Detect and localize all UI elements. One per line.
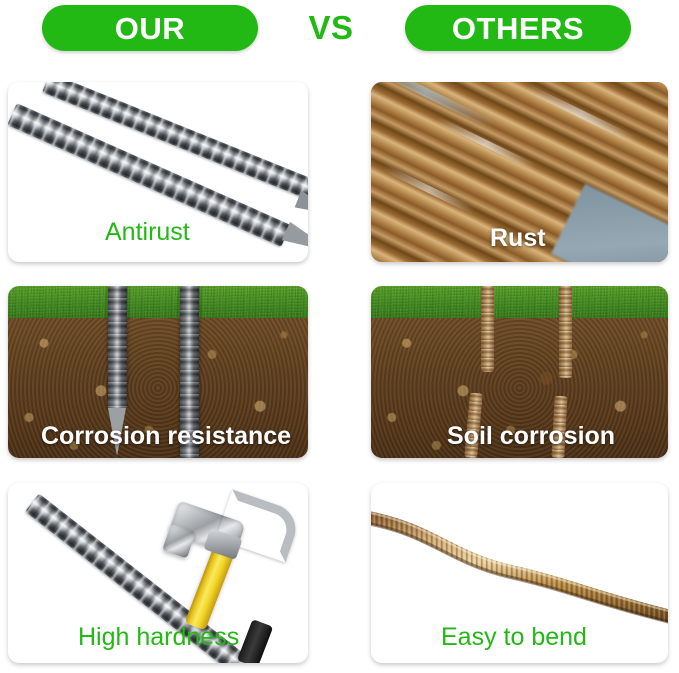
panel-caption: High hardness <box>78 623 239 651</box>
steel-rebar-upper-tip <box>295 191 308 225</box>
vs-label: VS <box>296 10 366 46</box>
panel-caption: Easy to bend <box>441 623 587 651</box>
bent-rebar-ribs <box>371 517 668 617</box>
hammer-grip <box>237 619 273 663</box>
rust-streak-3 <box>525 84 636 144</box>
panel-caption: Corrosion resistance <box>41 422 291 450</box>
panel-antirust: Antirust <box>8 82 308 262</box>
grass-layer <box>371 286 668 318</box>
panel-rust: Rust <box>371 82 668 262</box>
others-pill-badge: OTHERS <box>405 5 631 51</box>
grass-layer <box>8 286 308 318</box>
panel-corrosion-resistance: Corrosion resistance <box>8 286 308 458</box>
panel-caption: Soil corrosion <box>447 422 615 450</box>
rusty-stake-right-upper <box>559 286 572 378</box>
our-pill-badge: OUR <box>42 5 258 51</box>
steel-stake-left <box>108 286 127 408</box>
rust-streak-4 <box>383 164 476 214</box>
our-label: OUR <box>115 13 185 44</box>
rust-streak-1 <box>371 82 495 129</box>
panel-easy-to-bend: Easy to bend <box>371 483 668 663</box>
panel-high-hardness: High hardness <box>8 483 308 663</box>
panel-caption: Rust <box>490 224 546 252</box>
panel-soil-corrosion: Soil corrosion <box>371 286 668 458</box>
comparison-header: OUR VS OTHERS <box>0 0 679 58</box>
concrete-corner <box>551 184 668 262</box>
rusty-stake-left-upper <box>481 286 494 372</box>
others-label: OTHERS <box>452 13 584 44</box>
panel-caption: Antirust <box>105 218 190 246</box>
